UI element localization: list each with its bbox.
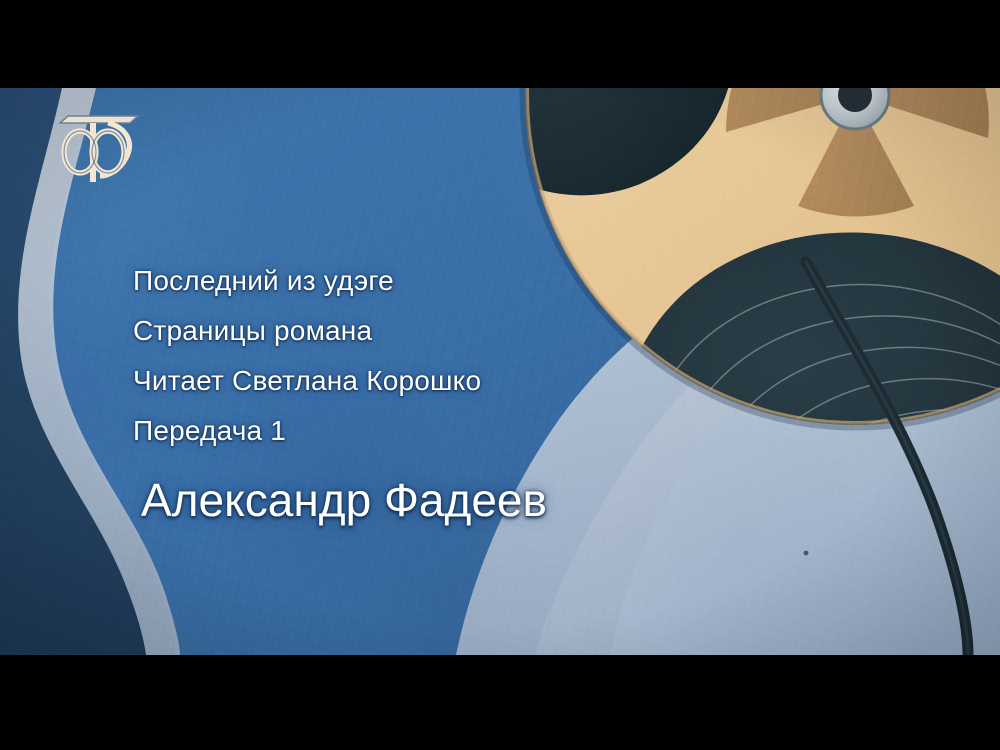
title-line-3: Читает Светлана Корошко xyxy=(133,356,481,406)
title-block: Последний из удэге Страницы романа Читае… xyxy=(133,256,481,456)
title-line-1: Последний из удэге xyxy=(133,256,481,306)
artwork-canvas: Последний из удэге Страницы романа Читае… xyxy=(0,88,1000,655)
author-name: Александр Фадеев xyxy=(141,473,547,527)
title-line-2: Страницы романа xyxy=(133,306,481,356)
letterbox-top xyxy=(0,0,1000,88)
title-line-4: Передача 1 xyxy=(133,406,481,456)
video-card: Последний из удэге Страницы романа Читае… xyxy=(0,0,1000,750)
gosteleradiofond-logo xyxy=(52,110,144,188)
letterbox-bottom xyxy=(0,655,1000,750)
logo-icon xyxy=(52,110,144,188)
